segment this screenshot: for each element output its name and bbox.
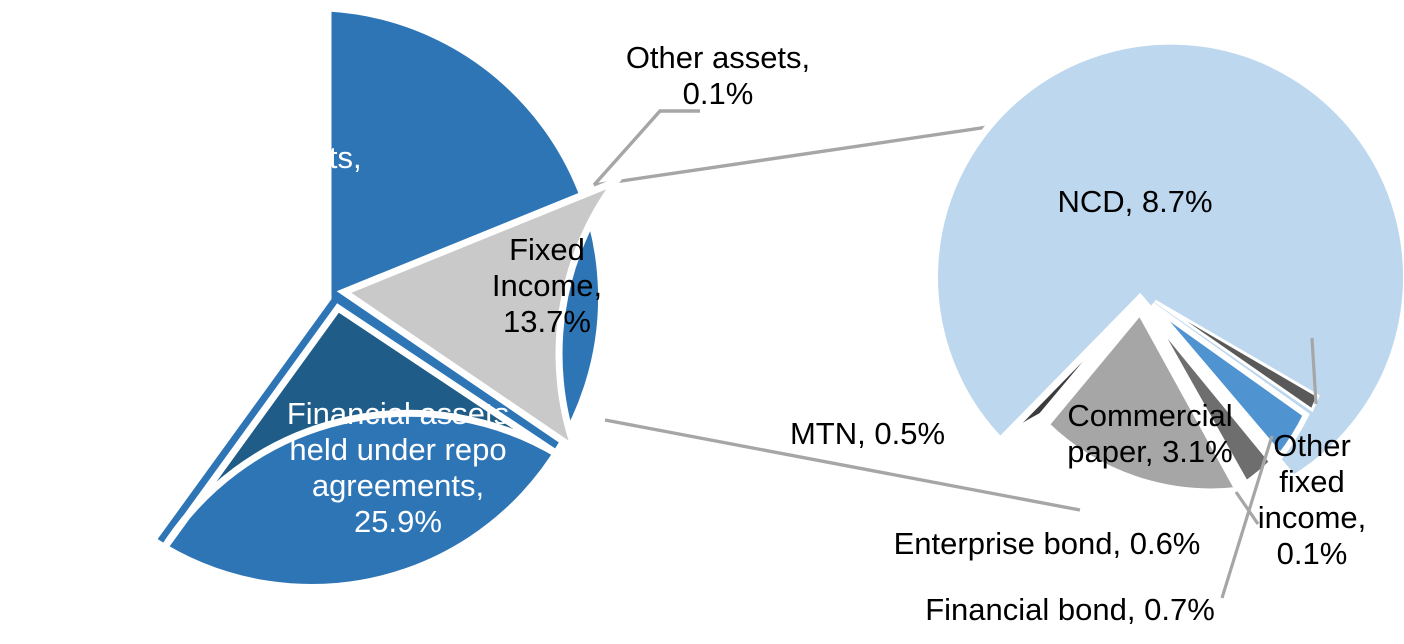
slice-other-assets[interactable] <box>326 8 328 298</box>
other-assets-leader-polyline <box>594 111 700 185</box>
pie-chart-figure: Bank deposits, 60.3% Financial assets he… <box>0 0 1404 644</box>
fixed-income-breakout-pie <box>935 41 1404 491</box>
other-assets-leader-line <box>594 111 700 185</box>
main-pie <box>153 8 616 588</box>
pie-chart-canvas <box>0 0 1404 644</box>
